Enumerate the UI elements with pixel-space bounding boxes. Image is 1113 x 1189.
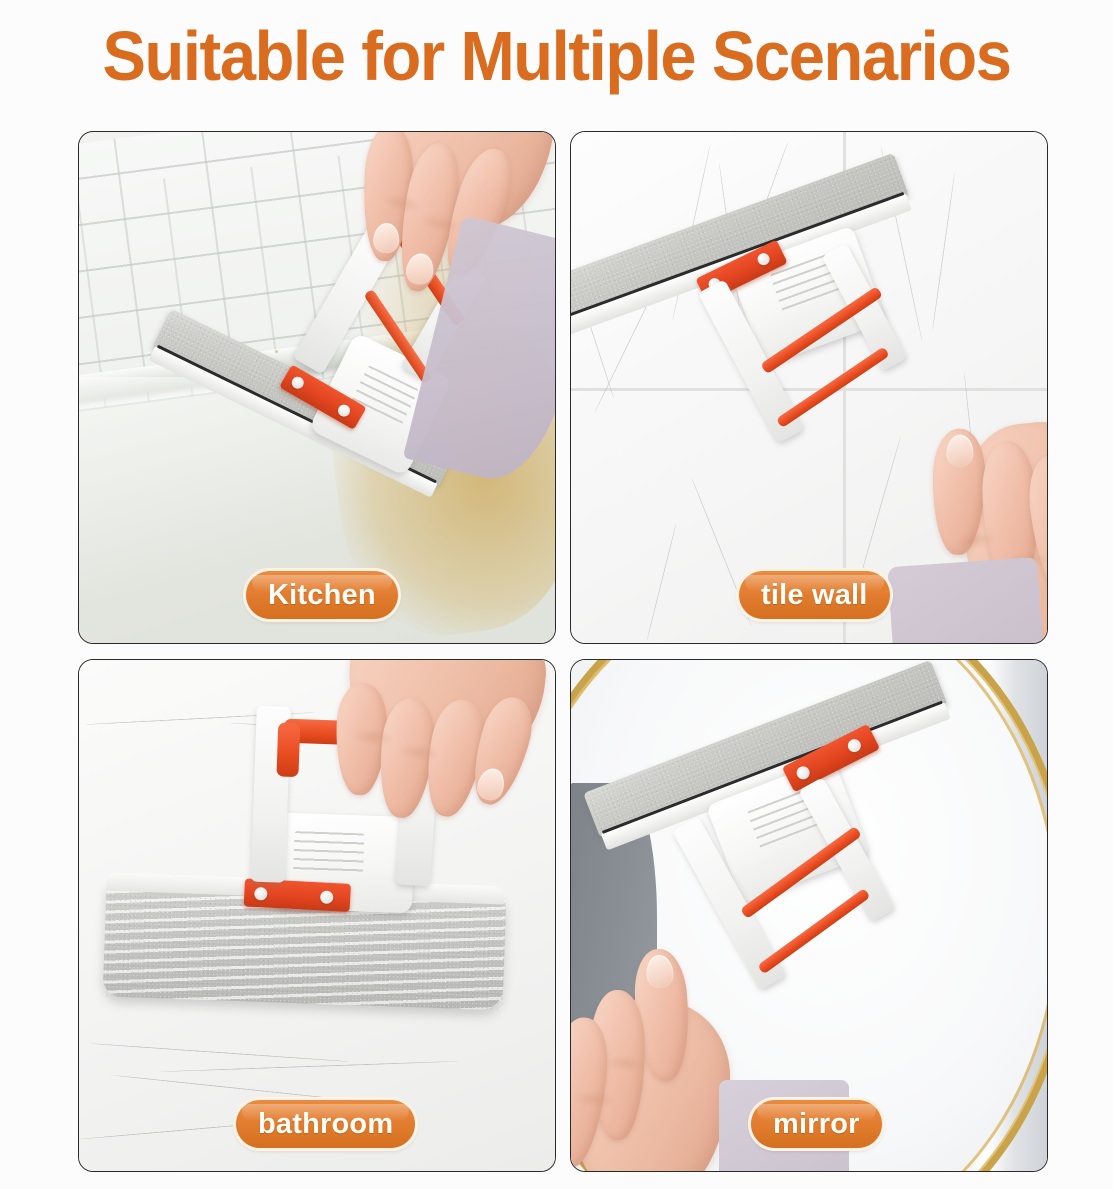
- bathroom-scene-photo: bathroom: [79, 660, 555, 1171]
- scenario-panel-mirror[interactable]: mirror: [570, 659, 1048, 1172]
- wrist-sleeve: [887, 557, 1044, 643]
- badge-mirror[interactable]: mirror: [751, 1100, 882, 1148]
- scenario-panel-kitchen[interactable]: Kitchen: [78, 131, 556, 644]
- fingernail: [373, 222, 401, 253]
- mirror-scene-photo: mirror: [571, 660, 1047, 1171]
- hand-bathroom: [286, 660, 555, 916]
- scenario-grid: Kitchen: [78, 131, 1048, 1172]
- fingernail: [946, 435, 974, 467]
- hinge-rivet: [254, 887, 268, 901]
- badge-tile-wall[interactable]: tile wall: [739, 571, 890, 619]
- scenario-panel-bathroom[interactable]: bathroom: [78, 659, 556, 1172]
- fingernail: [645, 954, 674, 989]
- hinge-rivet: [846, 737, 863, 754]
- fingernail: [474, 765, 508, 803]
- tile-wall-scene-photo: tile wall: [571, 132, 1047, 643]
- badge-bathroom[interactable]: bathroom: [236, 1100, 415, 1148]
- badge-kitchen[interactable]: Kitchen: [246, 571, 398, 619]
- hinge-rivet: [756, 251, 772, 267]
- scenario-panel-tile-wall[interactable]: tile wall: [570, 131, 1048, 644]
- kitchen-scene-photo: Kitchen: [79, 132, 555, 643]
- squeegee-grip-bar-vertical: [276, 722, 300, 777]
- hinge-rivet: [794, 764, 811, 781]
- hinge-rivet: [336, 402, 352, 418]
- page-title: Suitable for Multiple Scenarios: [39, 8, 1074, 104]
- squeegee-grip-bar-lower: [776, 346, 890, 428]
- hinge-rivet: [290, 375, 306, 391]
- fingernail: [404, 251, 436, 286]
